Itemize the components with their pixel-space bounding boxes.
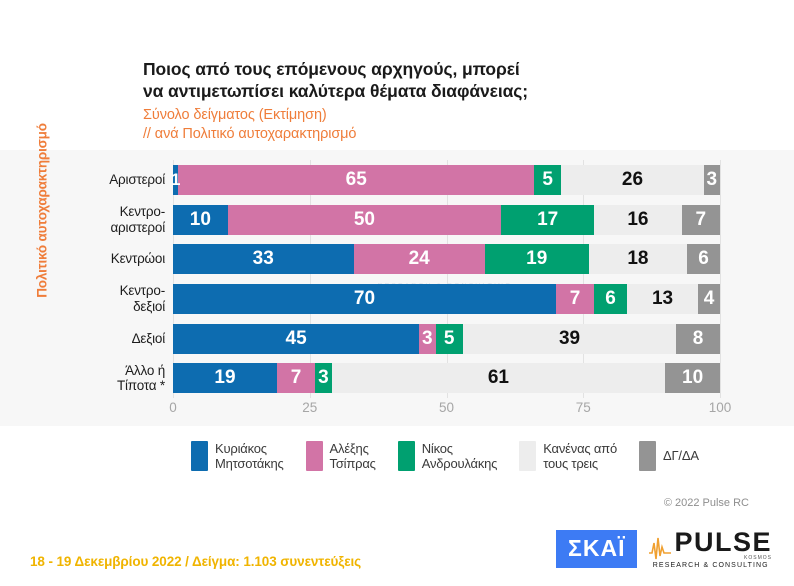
- category-label-line: Δεξιοί: [60, 331, 165, 347]
- bar-segment: 50: [228, 205, 502, 235]
- pulse-wave-icon: [649, 535, 671, 561]
- bar-segment: 17: [501, 205, 594, 235]
- bar-value-label: 5: [444, 328, 455, 350]
- chart-title-line-2: να αντιμετωπίσει καλύτερα θέματα διαφάνε…: [143, 80, 663, 102]
- legend-swatch: [306, 441, 323, 471]
- legend-label: ΔΓ/ΔΑ: [663, 441, 699, 463]
- bar-segment: 3: [419, 324, 435, 354]
- bar-segment: 7: [682, 205, 720, 235]
- bar-segment: 1: [173, 165, 178, 195]
- bar-row: 332419186: [173, 244, 720, 274]
- bar-value-label: 18: [627, 248, 648, 270]
- category-label: Αριστεροί: [60, 172, 165, 188]
- category-labels: ΑριστεροίΚεντρο-αριστεροίΚεντρώοιΚεντρο-…: [60, 160, 165, 398]
- legend-item[interactable]: Κυριάκος Μητσοτάκης: [191, 441, 284, 471]
- bar-value-label: 19: [526, 248, 547, 270]
- plot-area: 1655263105017167332419186707613445353981…: [173, 160, 720, 398]
- legend-label: Κανένας από τους τρεις: [543, 441, 617, 471]
- bar-value-label: 19: [214, 367, 235, 389]
- bar-segment: 18: [589, 244, 687, 274]
- logo-group: ΣΚΑΪ PULSE KOSMOS RESEARCH & CONSULTING: [556, 529, 772, 569]
- survey-date-sample: 18 - 19 Δεκεμβρίου 2022 / Δείγμα: 1.103 …: [30, 554, 361, 569]
- chart-subtitle-2: // ανά Πολιτικό αυτοχαρακτηρισμό: [143, 125, 663, 144]
- bar-value-label: 17: [537, 209, 558, 231]
- bar-value-label: 45: [286, 328, 307, 350]
- bar-segment: 70: [173, 284, 556, 314]
- bar-segment: 6: [594, 284, 627, 314]
- y-axis-title: Πολιτικό αυτοχαρακτηρισμό: [35, 101, 50, 321]
- bar-value-label: 1: [171, 170, 180, 190]
- pulse-logo-kosmos: KOSMOS: [674, 555, 772, 561]
- bar-value-label: 3: [318, 367, 329, 389]
- bar-segment: 3: [704, 165, 720, 195]
- bar-value-label: 24: [409, 248, 430, 270]
- legend-label: Νίκος Ανδρουλάκης: [422, 441, 498, 471]
- bar-value-label: 7: [291, 367, 302, 389]
- legend-swatch: [519, 441, 536, 471]
- legend-item[interactable]: Αλέξης Τσίπρας: [306, 441, 376, 471]
- bar-value-label: 61: [488, 367, 509, 389]
- bar-segment: 45: [173, 324, 419, 354]
- bar-value-label: 39: [559, 328, 580, 350]
- category-label-line: Κεντρο-: [60, 204, 165, 220]
- bar-row: 1655263: [173, 165, 720, 195]
- bar-value-label: 70: [354, 288, 375, 310]
- bar-segment: 33: [173, 244, 354, 274]
- category-label-line: αριστεροί: [60, 220, 165, 236]
- bar-value-label: 50: [354, 209, 375, 231]
- legend-label: Αλέξης Τσίπρας: [330, 441, 376, 471]
- title-block: Ποιος από τους επόμενους αρχηγούς, μπορε…: [143, 58, 663, 144]
- bar-segment: 16: [594, 205, 682, 235]
- category-label: Κεντρώοι: [60, 251, 165, 267]
- category-label-line: Κεντρο-: [60, 283, 165, 299]
- bar-value-label: 8: [693, 328, 704, 350]
- bar-segment: 8: [676, 324, 720, 354]
- bar-segment: 7: [277, 363, 315, 393]
- bar-value-label: 33: [253, 248, 274, 270]
- bar-segment: 5: [436, 324, 463, 354]
- bar-segment: 3: [315, 363, 331, 393]
- bar-segment: 26: [561, 165, 703, 195]
- x-tick-label: 25: [302, 400, 317, 415]
- bar-segment: 39: [463, 324, 676, 354]
- bar-value-label: 13: [652, 288, 673, 310]
- bar-segment: 10: [665, 363, 720, 393]
- bar-value-label: 26: [622, 169, 643, 191]
- category-label: Άλλο ήΤίποτα *: [60, 363, 165, 394]
- category-label: Δεξιοί: [60, 331, 165, 347]
- bar-segment: 13: [627, 284, 698, 314]
- chart-subtitle-1: Σύνολο δείγματος (Εκτίμηση): [143, 106, 663, 125]
- bar-segment: 61: [332, 363, 666, 393]
- bar-value-label: 10: [682, 367, 703, 389]
- legend-label: Κυριάκος Μητσοτάκης: [215, 441, 284, 471]
- chart-title-line-1: Ποιος από τους επόμενους αρχηγούς, μπορε…: [143, 58, 663, 80]
- bar-segment: 24: [354, 244, 485, 274]
- bar-segment: 10: [173, 205, 228, 235]
- bar-value-label: 65: [346, 169, 367, 191]
- copyright-text: © 2022 Pulse RC: [664, 497, 749, 509]
- pulse-logo-top: PULSE KOSMOS: [649, 529, 772, 561]
- category-label-line: Αριστεροί: [60, 172, 165, 188]
- bar-segment: 19: [173, 363, 277, 393]
- category-label: Κεντρο-δεξιοί: [60, 283, 165, 314]
- x-tick-label: 0: [169, 400, 177, 415]
- bar-value-label: 3: [706, 169, 717, 191]
- bar-value-label: 7: [696, 209, 707, 231]
- chart-legend: Κυριάκος ΜητσοτάκηςΑλέξης ΤσίπραςΝίκος Α…: [191, 441, 699, 471]
- bar-row: 4535398: [173, 324, 720, 354]
- bar-value-label: 6: [698, 248, 709, 270]
- legend-swatch: [191, 441, 208, 471]
- legend-item[interactable]: ΔΓ/ΔΑ: [639, 441, 699, 471]
- pulse-logo-word: PULSE: [674, 529, 772, 555]
- legend-item[interactable]: Νίκος Ανδρουλάκης: [398, 441, 498, 471]
- bar-segment: 5: [534, 165, 561, 195]
- bar-row: 105017167: [173, 205, 720, 235]
- bar-segment: 19: [485, 244, 589, 274]
- bar-value-label: 3: [422, 328, 433, 350]
- poll-chart-infographic: Ποιος από τους επόμενους αρχηγούς, μπορε…: [0, 0, 794, 586]
- category-label-line: Τίποτα *: [60, 378, 165, 394]
- skai-logo: ΣΚΑΪ: [556, 530, 637, 568]
- category-label-line: δεξιοί: [60, 299, 165, 315]
- pulse-logo-subtitle: RESEARCH & CONSULTING: [649, 562, 772, 569]
- x-tick-label: 50: [439, 400, 454, 415]
- bar-value-label: 5: [542, 169, 553, 191]
- x-axis-ticks: 0255075100: [173, 400, 720, 422]
- bar-rows: 1655263105017167332419186707613445353981…: [173, 160, 720, 398]
- legend-swatch: [398, 441, 415, 471]
- x-tick-label: 100: [709, 400, 732, 415]
- category-label-line: Άλλο ή: [60, 363, 165, 379]
- legend-item[interactable]: Κανένας από τους τρεις: [519, 441, 617, 471]
- bar-value-label: 4: [704, 288, 715, 310]
- category-label-line: Κεντρώοι: [60, 251, 165, 267]
- bar-row: 19736110: [173, 363, 720, 393]
- bar-segment: 7: [556, 284, 594, 314]
- bar-segment: 6: [687, 244, 720, 274]
- category-label: Κεντρο-αριστεροί: [60, 204, 165, 235]
- pulse-logo: PULSE KOSMOS RESEARCH & CONSULTING: [649, 529, 772, 569]
- bar-value-label: 10: [190, 209, 211, 231]
- x-tick-label: 75: [576, 400, 591, 415]
- bar-value-label: 16: [627, 209, 648, 231]
- bar-segment: 4: [698, 284, 720, 314]
- bar-value-label: 6: [605, 288, 616, 310]
- bar-row: 7076134: [173, 284, 720, 314]
- bar-value-label: 7: [570, 288, 581, 310]
- bar-segment: 65: [178, 165, 534, 195]
- legend-swatch: [639, 441, 656, 471]
